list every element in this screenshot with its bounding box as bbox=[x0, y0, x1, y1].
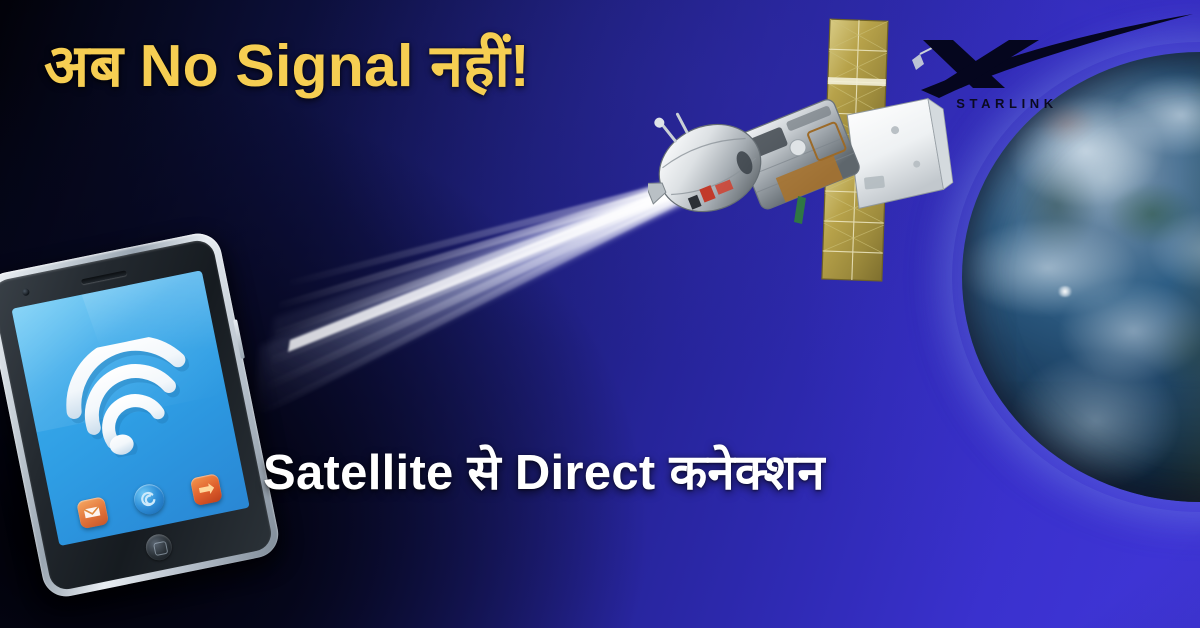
promo-banner: STARLINK bbox=[0, 0, 1200, 628]
headline-text: अब No Signal नहीं! bbox=[44, 36, 530, 98]
subline-text: Satellite से Direct कनेक्शन bbox=[263, 447, 825, 500]
